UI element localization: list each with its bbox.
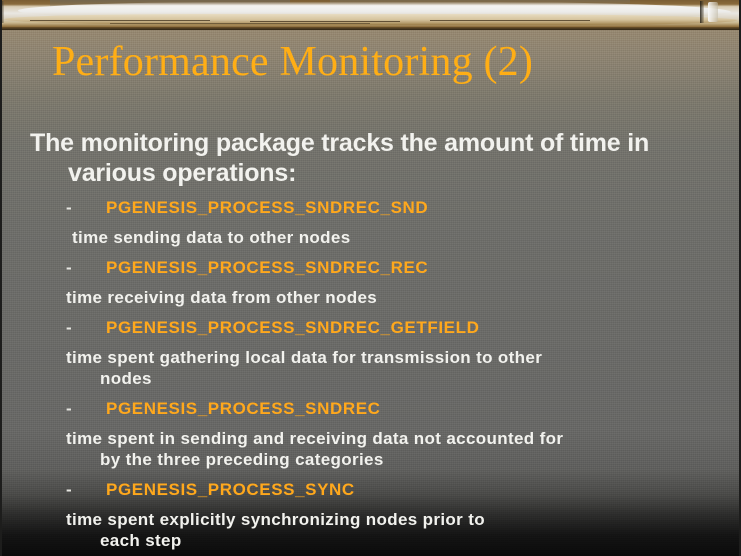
- constant-name: PGENESIS_PROCESS_SYNC: [106, 480, 355, 500]
- banner-highlight: [18, 2, 731, 20]
- constant-description: time spent gathering local data for tran…: [0, 347, 741, 389]
- slide-left-border: [0, 0, 2, 556]
- constant-description: time receiving data from other nodes: [0, 287, 741, 308]
- banner-shadow-right: [330, 0, 630, 7]
- banner-shadow-left: [50, 0, 290, 9]
- list-item: - PGENESIS_PROCESS_SNDREC: [0, 399, 741, 419]
- constant-name: PGENESIS_PROCESS_SNDREC_GETFIELD: [106, 318, 479, 338]
- constant-name: PGENESIS_PROCESS_SNDREC_SND: [106, 198, 428, 218]
- slide-body: The monitoring package tracks the amount…: [0, 128, 741, 551]
- list-item: - PGENESIS_PROCESS_SYNC: [0, 480, 741, 500]
- lead-line-1: The monitoring package tracks the amount…: [30, 129, 649, 157]
- description-line-1: time spent in sending and receiving data…: [66, 429, 563, 448]
- dash-bullet-icon: -: [66, 399, 106, 419]
- dash-bullet-icon: -: [66, 198, 106, 218]
- dash-bullet-icon: -: [66, 318, 106, 338]
- description-line-2: nodes: [66, 368, 671, 389]
- list-item: - PGENESIS_PROCESS_SNDREC_SND: [0, 198, 741, 218]
- dash-bullet-icon: -: [66, 258, 106, 278]
- description-line-2: each step: [66, 530, 671, 551]
- lead-line-2: various operations:: [30, 158, 685, 188]
- banner-streak-2: [250, 21, 400, 22]
- banner-baseline: [0, 27, 741, 30]
- banner-streak-3: [430, 20, 590, 21]
- description-line-1: time spent gathering local data for tran…: [66, 348, 542, 367]
- description-line-1: time receiving data from other nodes: [66, 288, 377, 307]
- banner-right-end: [700, 1, 704, 23]
- constant-description: time sending data to other nodes: [0, 227, 741, 248]
- constant-description: time spent in sending and receiving data…: [0, 428, 741, 470]
- slide-title: Performance Monitoring (2): [52, 38, 533, 86]
- banner-streak-4: [110, 23, 370, 24]
- dash-bullet-icon: -: [66, 480, 106, 500]
- description-line-2: by the three preceding categories: [66, 449, 671, 470]
- description-line-1: time sending data to other nodes: [72, 228, 351, 247]
- constant-name: PGENESIS_PROCESS_SNDREC: [106, 399, 381, 419]
- description-line-1: time spent explicitly synchronizing node…: [66, 510, 485, 529]
- list-item: - PGENESIS_PROCESS_SNDREC_REC: [0, 258, 741, 278]
- constant-name: PGENESIS_PROCESS_SNDREC_REC: [106, 258, 428, 278]
- list-item: - PGENESIS_PROCESS_SNDREC_GETFIELD: [0, 318, 741, 338]
- banner-streak-1: [30, 20, 210, 21]
- presentation-slide: Performance Monitoring (2) The monitorin…: [0, 0, 741, 556]
- lead-paragraph: The monitoring package tracks the amount…: [0, 128, 741, 188]
- decorative-banner-image: [0, 0, 741, 30]
- constant-description: time spent explicitly synchronizing node…: [0, 509, 741, 551]
- banner-roll-cap: [708, 2, 718, 22]
